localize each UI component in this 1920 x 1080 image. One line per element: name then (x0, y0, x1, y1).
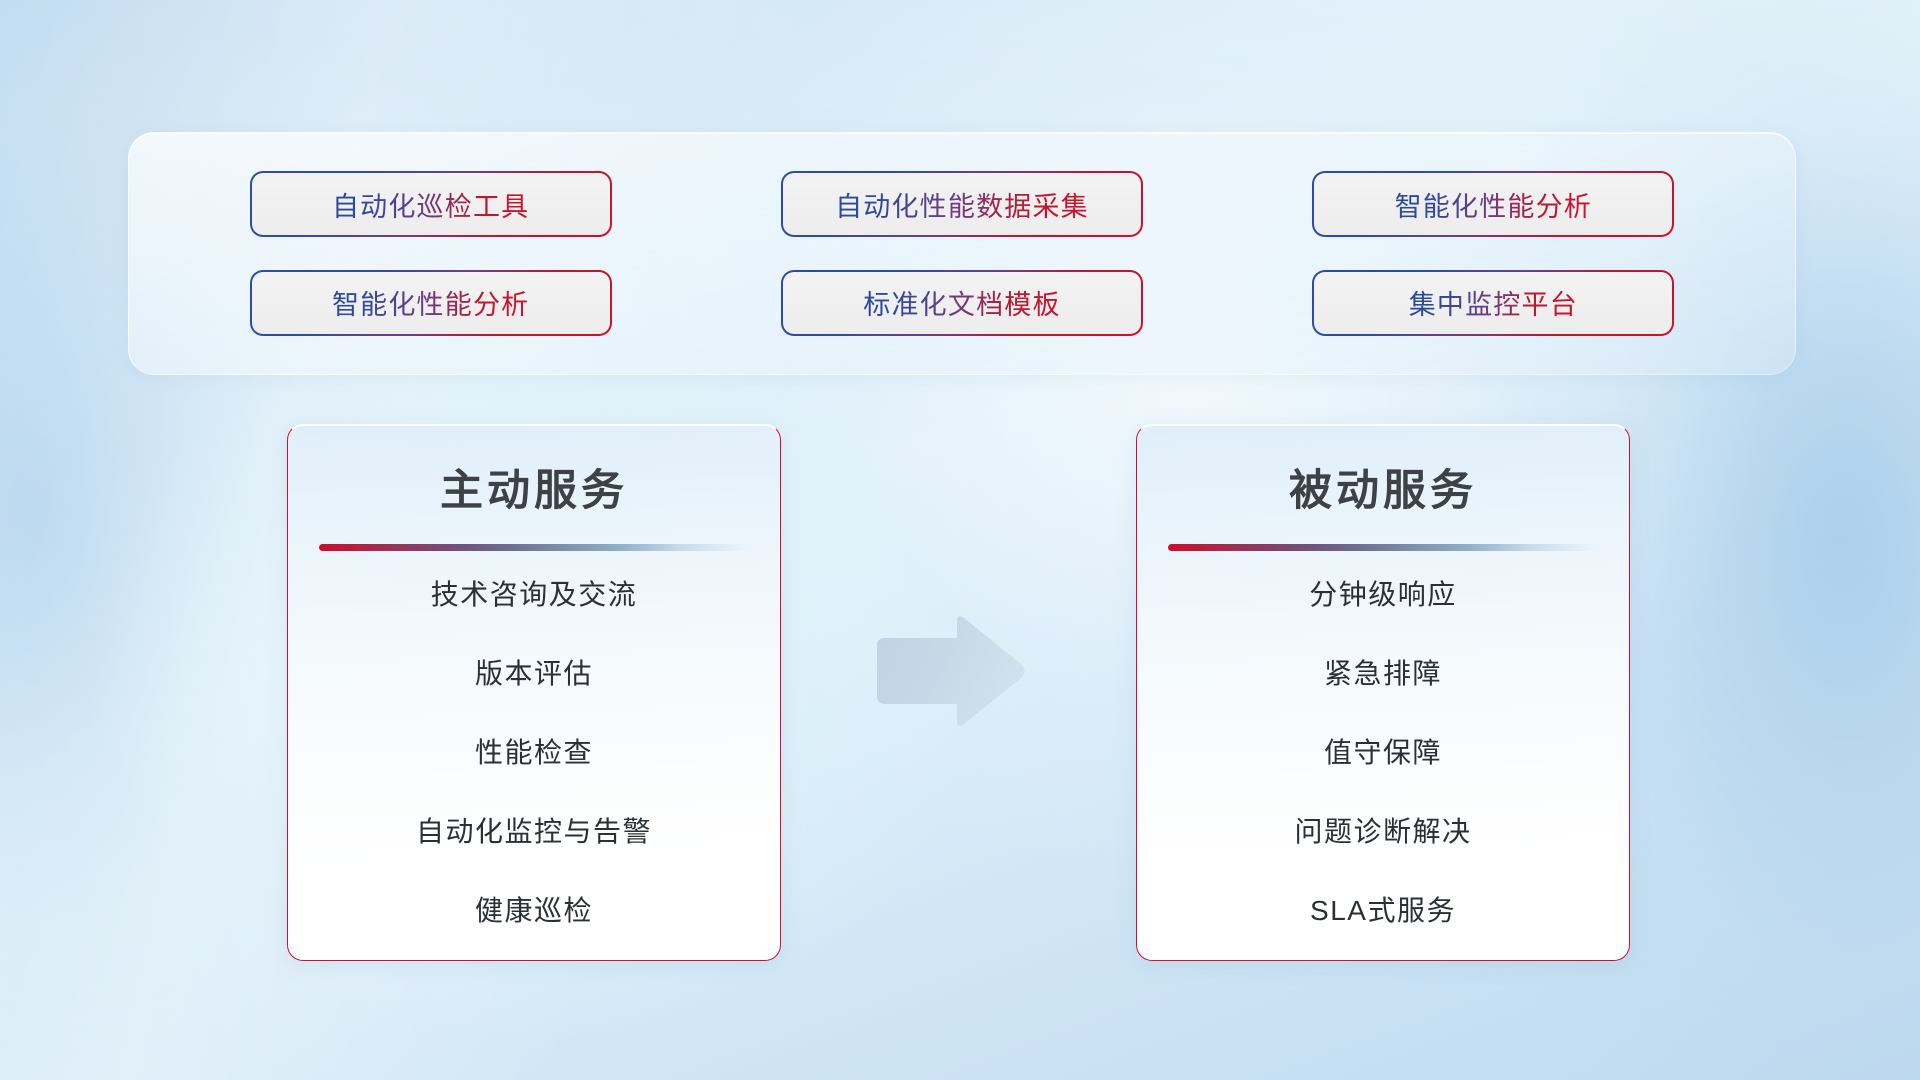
service-list-item: 技术咨询及交流 (431, 577, 638, 612)
capability-tag-label: 自动化性能数据采集 (835, 185, 1089, 224)
service-card-passive: 被动服务 分钟级响应 紧急排障 值守保障 问题诊断解决 SLA式服务 (1136, 424, 1630, 961)
service-item-list-passive: 分钟级响应 紧急排障 值守保障 问题诊断解决 SLA式服务 (1171, 551, 1595, 936)
service-item-list-active: 技术咨询及交流 版本评估 性能检查 自动化监控与告警 健康巡检 (322, 551, 746, 936)
card-title-divider (1168, 544, 1598, 551)
capability-tag-intelligent-performance-analysis-a[interactable]: 智能化性能分析 (1314, 173, 1672, 235)
service-list-item: 版本评估 (475, 656, 593, 691)
capability-tags-panel: 自动化巡检工具 自动化性能数据采集 智能化性能分析 智能化性能分析 标准化文档模… (128, 132, 1796, 375)
service-list-item: 分钟级响应 (1309, 577, 1457, 612)
service-list-item: 性能检查 (475, 735, 593, 770)
service-list-item: 自动化监控与告警 (416, 814, 652, 849)
capability-tag-intelligent-performance-analysis-b[interactable]: 智能化性能分析 (252, 272, 610, 334)
capability-tag-standardized-document-template[interactable]: 标准化文档模板 (783, 272, 1141, 334)
service-list-item: SLA式服务 (1310, 893, 1456, 928)
capability-tag-label: 集中监控平台 (1409, 283, 1578, 322)
capability-tag-label: 智能化性能分析 (332, 283, 529, 322)
service-list-item: 健康巡检 (475, 893, 593, 928)
card-title-divider (319, 544, 749, 551)
capability-tag-label: 标准化文档模板 (863, 283, 1060, 322)
capability-tag-centralized-monitoring-platform[interactable]: 集中监控平台 (1314, 272, 1672, 334)
capability-tag-automation-inspection-tool[interactable]: 自动化巡检工具 (252, 173, 610, 235)
capability-tag-label: 自动化巡检工具 (332, 185, 529, 224)
right-arrow-icon (869, 612, 1029, 730)
card-title-active: 主动服务 (440, 467, 628, 516)
service-list-item: 问题诊断解决 (1294, 814, 1471, 849)
service-list-item: 值守保障 (1324, 735, 1442, 770)
capability-tag-automated-performance-data-collection[interactable]: 自动化性能数据采集 (783, 173, 1141, 235)
card-title-passive: 被动服务 (1289, 467, 1477, 516)
service-card-active: 主动服务 技术咨询及交流 版本评估 性能检查 自动化监控与告警 健康巡检 (287, 424, 781, 961)
service-list-item: 紧急排障 (1324, 656, 1442, 691)
capability-tag-label: 智能化性能分析 (1395, 185, 1592, 224)
